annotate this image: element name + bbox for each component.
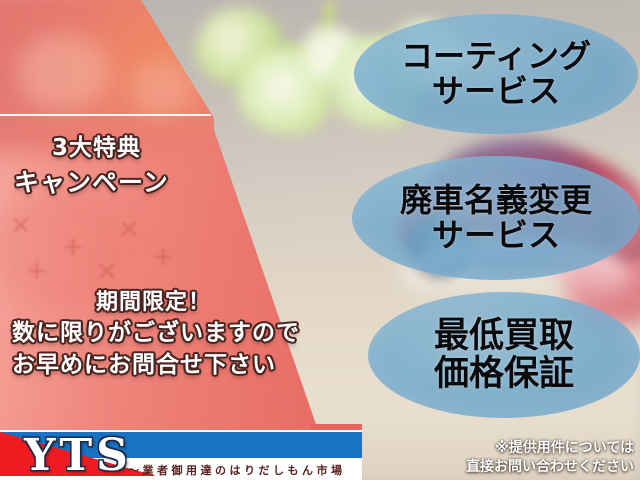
promo-body-line2: 数に限りがございますので (12, 313, 300, 347)
service-badge-line1: 廃車名義変更 (400, 183, 592, 218)
promo-body-line1: 期間限定！ (96, 284, 211, 316)
decor-mark: × (10, 210, 32, 240)
service-badge-line1: 最低買取 (434, 317, 574, 356)
decor-mark: + (152, 242, 174, 272)
company-logo[interactable]: YTS ～業者御用達のはりだしもん市場 (0, 430, 362, 480)
promo-headline-line2: キャンペーン (14, 163, 169, 199)
service-badge-line2: 価格保証 (434, 355, 574, 394)
logo-tagline: ～業者御用達のはりだしもん市場 (128, 462, 346, 478)
decor-mark: × (96, 256, 118, 286)
decor-mark: + (62, 232, 84, 262)
service-badge-line2: サービス (432, 74, 560, 109)
panel-texture-blob (18, 34, 110, 110)
service-badge-coating[interactable]: コーティング サービス (354, 14, 638, 134)
disclaimer-line2: 直接お問い合わせください (466, 456, 634, 476)
service-badge-price-guarantee[interactable]: 最低買取 価格保証 (368, 292, 640, 418)
logo-wordmark: YTS (24, 434, 132, 478)
decor-mark: + (26, 256, 48, 286)
service-badge-line1: コーティング (401, 39, 591, 74)
service-badge-line2: サービス (432, 218, 560, 253)
panel-divider-rule (0, 114, 211, 116)
decor-mark: × (118, 214, 140, 244)
disclaimer-line1: ※提供用件については (495, 437, 634, 457)
service-badge-scrap-name-change[interactable]: 廃車名義変更 サービス (352, 156, 640, 280)
promo-banner: × + × + × + 3大特典 キャンペーン 期間限定！ 数に限りがございます… (0, 0, 640, 480)
promo-headline-line1: 3大特典 (52, 128, 141, 162)
promo-body-line3: お早めにお問合せ下さい (12, 345, 276, 379)
